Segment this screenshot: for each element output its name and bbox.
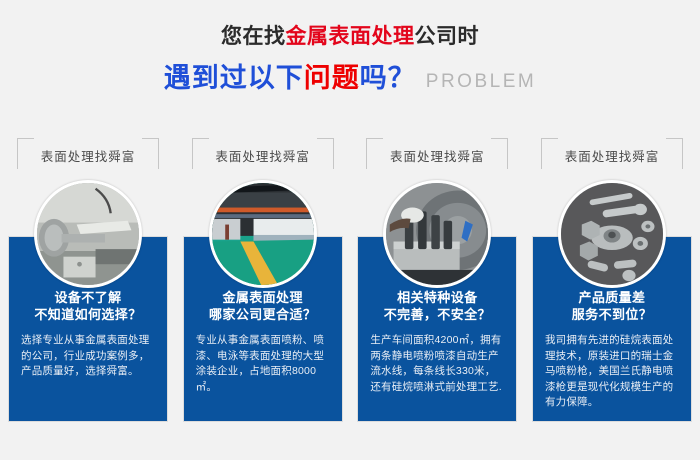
card-label-text: 表面处理找舜富	[390, 146, 485, 165]
headline2-highlight: 问题	[304, 63, 360, 93]
headline-primary: 您在找金属表面处理公司时	[0, 22, 700, 52]
card-label-3: 表面处理找舜富	[366, 138, 508, 172]
card-title-4: 产品质量差 服务不到位？	[543, 289, 681, 323]
headline-secondary: 遇到过以下问题吗？PROBLEM	[0, 61, 700, 99]
headline2-part2: 吗？	[360, 63, 416, 93]
factory-workshop-photo	[209, 180, 317, 288]
card-label-text: 表面处理找舜富	[215, 146, 310, 165]
page-header: 您在找金属表面处理公司时 遇到过以下问题吗？PROBLEM	[0, 0, 700, 99]
bolts-fasteners-photo	[558, 180, 666, 288]
card-body-4: 我司拥有先进的硅烷表面处理技术，原装进口的瑞士金马喷粉枪，美国兰氏静电喷漆枪更是…	[543, 333, 681, 411]
problem-cards-row: 表面处理找舜富 设备不了解 不知道如何选择？ 选择专业从事金属表面处理的公司，行…	[0, 138, 700, 428]
card-label-1: 表面处理找舜富	[17, 138, 159, 172]
problem-card-2[interactable]: 表面处理找舜富 金属表面处理 哪家公司更合适？ 专业从事金属表面喷粉、喷漆、电泳…	[183, 138, 343, 428]
card-label-4: 表面处理找舜富	[541, 138, 683, 172]
card-body-3: 生产车间面积4200㎡，拥有两条静电喷粉喷漆自动生产流水线，每条线长330米，还…	[368, 333, 506, 395]
lathe-machining-photo	[34, 180, 142, 288]
special-equipment-photo	[383, 180, 491, 288]
card-title-2: 金属表面处理 哪家公司更合适？	[194, 289, 332, 323]
headline-prefix: 您在找	[221, 25, 286, 48]
headline-english-label: PROBLEM	[426, 71, 536, 92]
problem-card-3[interactable]: 表面处理找舜富 相关特种设备 不完善，不安全？ 生产车间面积4200㎡，拥有两条…	[357, 138, 517, 428]
card-title-1: 设备不了解 不知道如何选择？	[19, 289, 157, 323]
headline2-part1: 遇到过以下	[164, 63, 304, 93]
card-label-text: 表面处理找舜富	[41, 146, 136, 165]
card-title-3: 相关特种设备 不完善，不安全？	[368, 289, 506, 323]
card-body-1: 选择专业从事金属表面处理的公司，行业成功案例多，产品质量好，选择舜富。	[19, 333, 157, 380]
card-body-2: 专业从事金属表面喷粉、喷漆、电泳等表面处理的大型涂装企业，占地面积8000㎡。	[194, 333, 332, 395]
promo-banner: 您在找金属表面处理公司时 遇到过以下问题吗？PROBLEM 表面处理找舜富 设备…	[0, 0, 700, 460]
headline-suffix: 公司时	[415, 25, 480, 48]
problem-card-4[interactable]: 表面处理找舜富 产品质量差 服务不到位？ 我司拥有先进的硅烷表面处理技术，原装进…	[532, 138, 692, 428]
headline-highlight: 金属表面处理	[286, 25, 415, 48]
card-label-text: 表面处理找舜富	[565, 146, 660, 165]
problem-card-1[interactable]: 表面处理找舜富 设备不了解 不知道如何选择？ 选择专业从事金属表面处理的公司，行…	[8, 138, 168, 428]
card-label-2: 表面处理找舜富	[192, 138, 334, 172]
